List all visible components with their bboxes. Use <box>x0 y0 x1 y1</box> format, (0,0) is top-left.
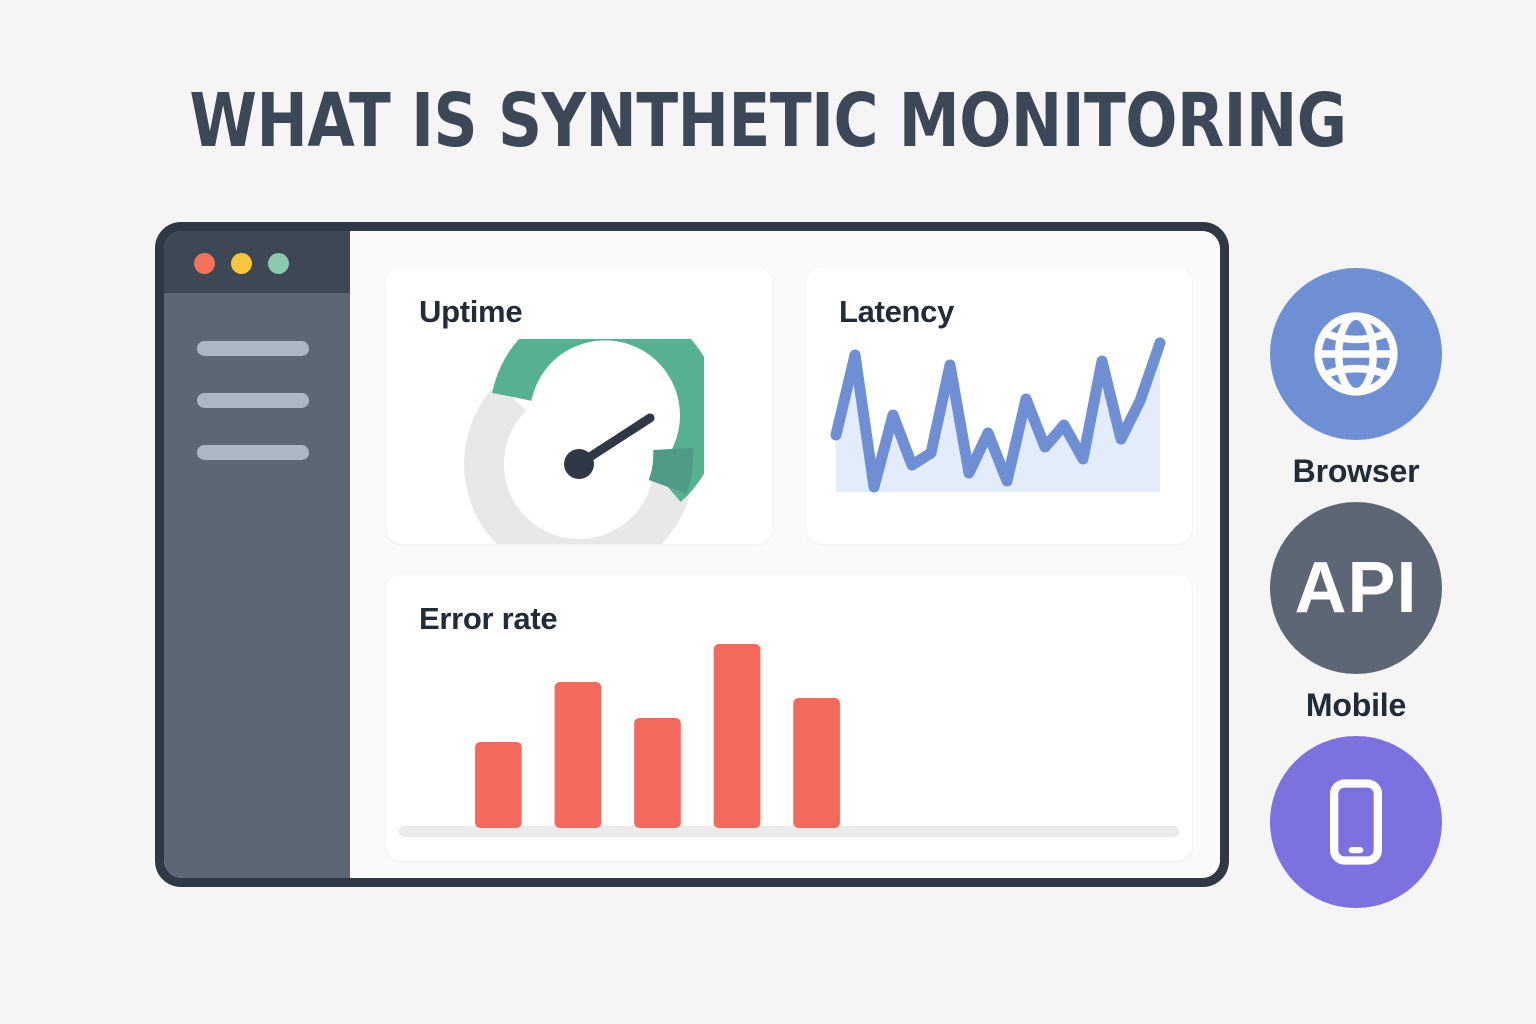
sidebar-nav-list <box>197 341 317 497</box>
close-dot-icon[interactable] <box>194 253 215 274</box>
infographic-canvas: WHAT IS SYNTHETIC MONITORING <box>0 0 1536 1024</box>
window-inner: Uptime <box>164 231 1220 878</box>
error-rate-svg <box>386 620 1192 856</box>
dashboard-content: Uptime <box>350 231 1220 878</box>
page-title: WHAT IS SYNTHETIC MONITORING <box>61 78 1474 164</box>
sidebar-item-2[interactable] <box>197 393 309 408</box>
bar-4 <box>714 644 761 828</box>
gauge-needle-hub <box>564 449 594 479</box>
gauge-needle <box>564 418 650 479</box>
bar-5 <box>793 698 840 828</box>
gauge-svg <box>454 339 704 544</box>
maximize-dot-icon[interactable] <box>268 253 289 274</box>
globe-icon <box>1302 300 1410 408</box>
browser-icon-circle <box>1270 268 1442 440</box>
traffic-light-dots <box>194 253 289 274</box>
bar-1 <box>475 742 522 828</box>
error-rate-card[interactable]: Error rate <box>386 574 1192 861</box>
uptime-card-title: Uptime <box>419 294 522 330</box>
mobile-phone-icon <box>1304 770 1408 874</box>
sidebar <box>164 231 350 878</box>
rail-label-mobile: Mobile <box>1256 687 1456 724</box>
minimize-dot-icon[interactable] <box>231 253 252 274</box>
sidebar-item-1[interactable] <box>197 341 309 356</box>
sidebar-item-3[interactable] <box>197 445 309 460</box>
error-rate-bar-chart <box>386 620 1192 856</box>
top-card-row: Uptime <box>386 267 1192 544</box>
latency-sparkline <box>828 337 1173 527</box>
monitoring-types-rail: Browser API Mobile <box>1256 268 1456 921</box>
browser-window-mock: Uptime <box>155 222 1229 887</box>
latency-svg <box>828 337 1173 527</box>
bar-3 <box>634 718 681 828</box>
gauge-arc-secondary <box>668 449 674 487</box>
rail-label-browser: Browser <box>1256 453 1456 490</box>
api-text-icon: API <box>1294 552 1417 624</box>
rail-item-mobile[interactable] <box>1256 736 1456 908</box>
uptime-card[interactable]: Uptime <box>386 267 772 544</box>
latency-card[interactable]: Latency <box>806 267 1192 544</box>
uptime-gauge <box>386 339 772 544</box>
rail-item-api[interactable]: API Mobile <box>1256 502 1456 724</box>
bar-2 <box>555 682 602 828</box>
rail-item-browser[interactable]: Browser <box>1256 268 1456 490</box>
api-icon-circle: API <box>1270 502 1442 674</box>
mobile-icon-circle <box>1270 736 1442 908</box>
window-titlebar <box>164 231 350 293</box>
latency-card-title: Latency <box>839 294 954 330</box>
